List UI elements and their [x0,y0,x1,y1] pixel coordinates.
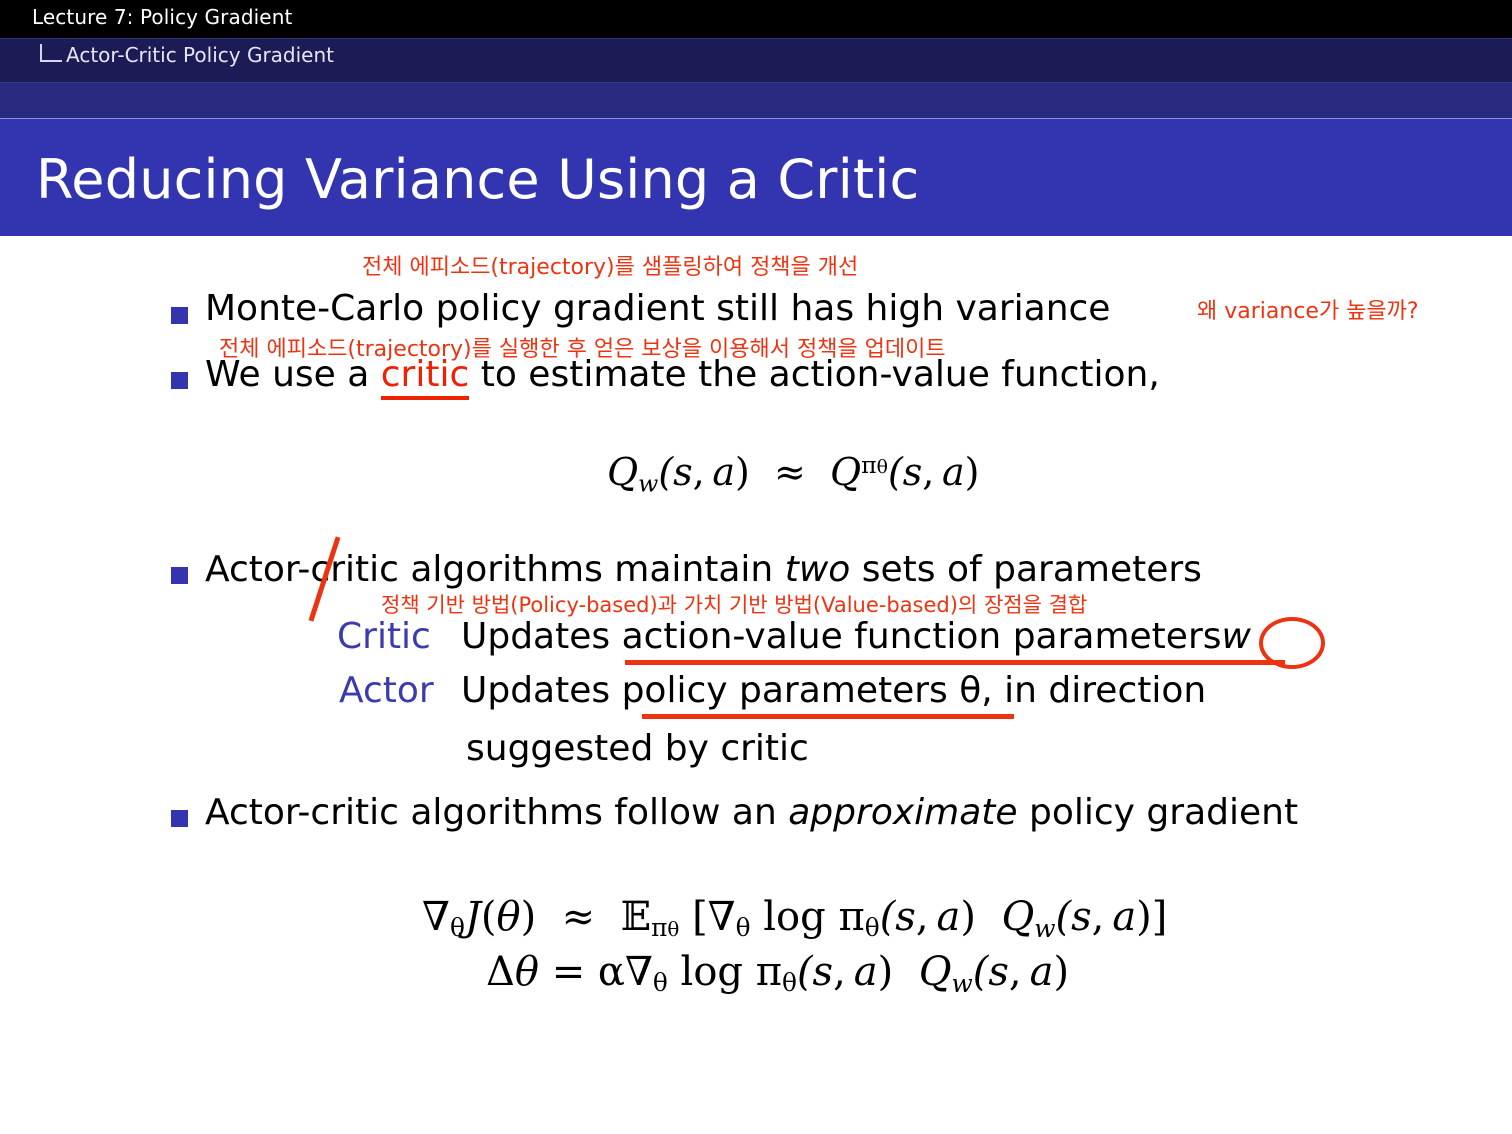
tree-branch-icon [38,44,64,66]
equation-q-approx: Qw(s, a) ≈ Qπθ(s, a) [607,450,979,498]
bullet-text-4: Actor-critic algorithms follow an approx… [205,793,1298,833]
annotation-top-korean: 전체 에피소드(trajectory)를 샘플링하여 정책을 개선 [362,256,858,280]
slide-canvas: Lecture 7: Policy Gradient Actor-Critic … [0,0,1512,1134]
annotation-variance-korean: 왜 variance가 높을까? [1197,300,1419,324]
ink-underline-critic [625,660,1285,665]
definition-critic-pre: Updates [461,616,622,657]
definition-actor-post: , in direction [981,670,1206,711]
annotation-third-korean: 정책 기반 방법(Policy-based)과 가치 기반 방법(Value-b… [381,593,1087,617]
header-band-mid [0,82,1512,119]
bullet-text-3-post: sets of parameters [850,549,1202,590]
bullet-text-1: Monte-Carlo policy gradient still has hi… [205,289,1110,329]
definition-critic-circled: w [1222,616,1251,657]
slide-body: 전체 에피소드(trajectory)를 샘플링하여 정책을 개선 Monte-… [0,235,1512,1134]
ink-circle-w [1259,617,1325,669]
equation-delta-theta: Δθ = α∇θ log πθ(s, a) Qw(s, a) [486,949,1069,998]
bullet-text-4-italic: approximate [788,792,1017,833]
definition-actor-pre: Updates [461,670,622,711]
definition-label-critic: Critic [337,617,431,657]
breadcrumb-section-label: Actor-Critic Policy Gradient [66,44,334,66]
bullet-text-4-post: policy gradient [1018,792,1299,833]
definition-actor-underlined: policy parameters θ [622,670,982,711]
bullet-text-2-prefix: We use a [205,354,381,395]
bullet-marker-3 [171,567,188,584]
bullet-text-3: Actor-critic algorithms maintain two set… [205,550,1202,590]
breadcrumb-section: Actor-Critic Policy Gradient [38,44,334,66]
ink-underline-actor [642,714,1014,719]
page-title: Reducing Variance Using a Critic [36,148,919,211]
bullet-text-3-italic: two [785,549,851,590]
bullet-text-4-pre: Actor-critic algorithms follow an [205,792,788,833]
highlight-critic: critic [381,354,470,400]
bullet-marker-4 [171,810,188,827]
bullet-text-3-pre: Actor-critic algorithms maintain [205,549,785,590]
definition-critic-underlined: action-value function parameters [622,616,1222,657]
bullet-marker-2 [171,372,188,389]
equation-grad-j: ∇θJ(θ) ≈ 𝔼πθ [∇θ log πθ(s, a) Qw(s, a)] [422,894,1167,943]
definition-actor-line2: suggested by critic [466,729,809,769]
bullet-text-2-suffix: to estimate the action-value function, [469,354,1160,395]
bullet-text-2: We use a critic to estimate the action-v… [205,355,1160,395]
definition-label-actor: Actor [339,671,434,711]
breadcrumb-lecture: Lecture 7: Policy Gradient [32,5,292,29]
definition-text-critic: Updates action-value function parameters… [461,617,1251,657]
definition-text-actor: Updates policy parameters θ, in directio… [461,671,1206,711]
bullet-marker-1 [171,307,188,324]
